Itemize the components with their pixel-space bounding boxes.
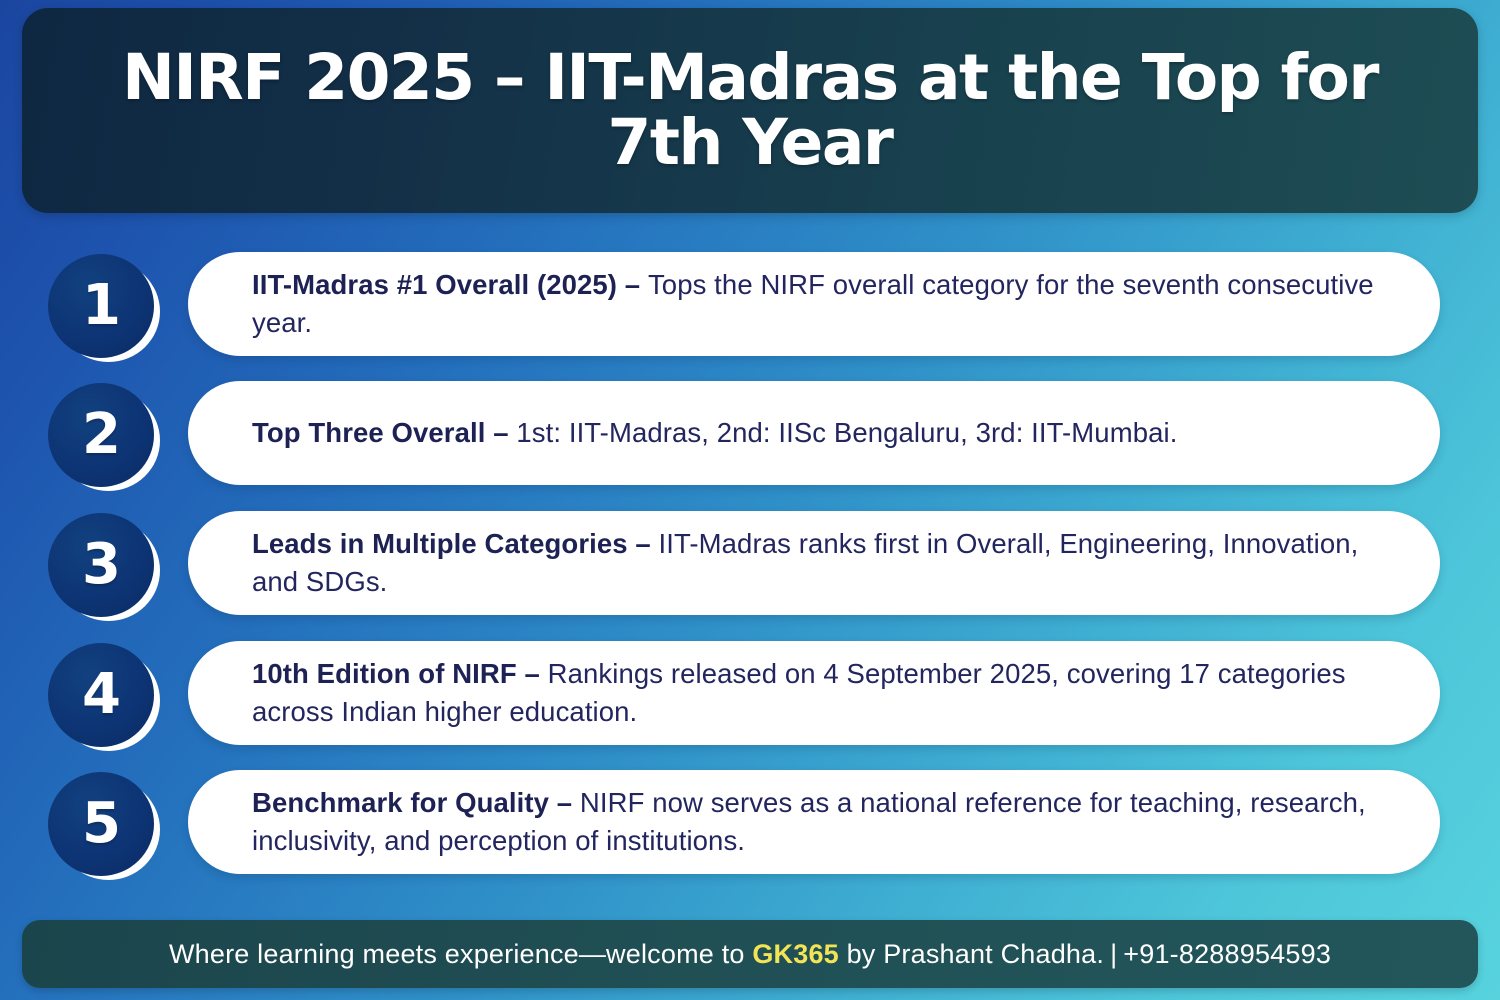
badge-disc: 2 [48,383,154,487]
footer-text-before: Where learning meets experience—welcome … [169,939,752,969]
list-item: 5 Benchmark for Quality – NIRF now serve… [0,768,1500,898]
point-text: Leads in Multiple Categories – IIT-Madra… [252,525,1378,601]
footer-text-after: by Prashant Chadha. [839,939,1104,969]
infographic-poster: NIRF 2025 – IIT-Madras at the Top for 7t… [0,0,1500,1000]
footer-phone: +91-8288954593 [1123,939,1331,969]
point-card: Benchmark for Quality – NIRF now serves … [188,770,1440,874]
points-list: 1 IIT-Madras #1 Overall (2025) – Tops th… [0,250,1500,898]
point-card: IIT-Madras #1 Overall (2025) – Tops the … [188,252,1440,356]
badge-number: 5 [82,796,120,852]
point-lead: Top Three Overall – [252,417,516,448]
footer-separator: | [1104,939,1123,969]
number-badge: 1 [48,254,160,362]
number-badge: 3 [48,513,160,621]
badge-number: 4 [82,667,120,723]
brand-name: GK365 [752,939,839,969]
point-lead: IIT-Madras #1 Overall (2025) – [252,269,648,300]
point-text: 10th Edition of NIRF – Rankings released… [252,655,1378,731]
number-badge: 5 [48,772,160,880]
point-card: Top Three Overall – 1st: IIT-Madras, 2nd… [188,381,1440,485]
point-text: Benchmark for Quality – NIRF now serves … [252,784,1378,860]
point-text: IIT-Madras #1 Overall (2025) – Tops the … [252,266,1378,342]
page-title: NIRF 2025 – IIT-Madras at the Top for 7t… [22,46,1478,176]
badge-disc: 5 [48,772,154,876]
point-card: Leads in Multiple Categories – IIT-Madra… [188,511,1440,615]
badge-disc: 1 [48,254,154,358]
point-body: 1st: IIT-Madras, 2nd: IISc Bengaluru, 3r… [516,417,1177,448]
list-item: 3 Leads in Multiple Categories – IIT-Mad… [0,509,1500,639]
badge-number: 2 [82,407,120,463]
title-banner: NIRF 2025 – IIT-Madras at the Top for 7t… [22,8,1478,213]
badge-number: 1 [82,278,120,334]
badge-disc: 3 [48,513,154,617]
point-lead: Leads in Multiple Categories – [252,528,659,559]
point-lead: Benchmark for Quality – [252,787,580,818]
footer-banner: Where learning meets experience—welcome … [22,920,1478,988]
number-badge: 4 [48,643,160,751]
point-card: 10th Edition of NIRF – Rankings released… [188,641,1440,745]
number-badge: 2 [48,383,160,491]
list-item: 4 10th Edition of NIRF – Rankings releas… [0,639,1500,768]
list-item: 2 Top Three Overall – 1st: IIT-Madras, 2… [0,379,1500,509]
badge-number: 3 [82,537,120,593]
point-lead: 10th Edition of NIRF – [252,658,548,689]
list-item: 1 IIT-Madras #1 Overall (2025) – Tops th… [0,250,1500,379]
footer-text: Where learning meets experience—welcome … [169,939,1331,970]
badge-disc: 4 [48,643,154,747]
point-text: Top Three Overall – 1st: IIT-Madras, 2nd… [252,414,1177,452]
